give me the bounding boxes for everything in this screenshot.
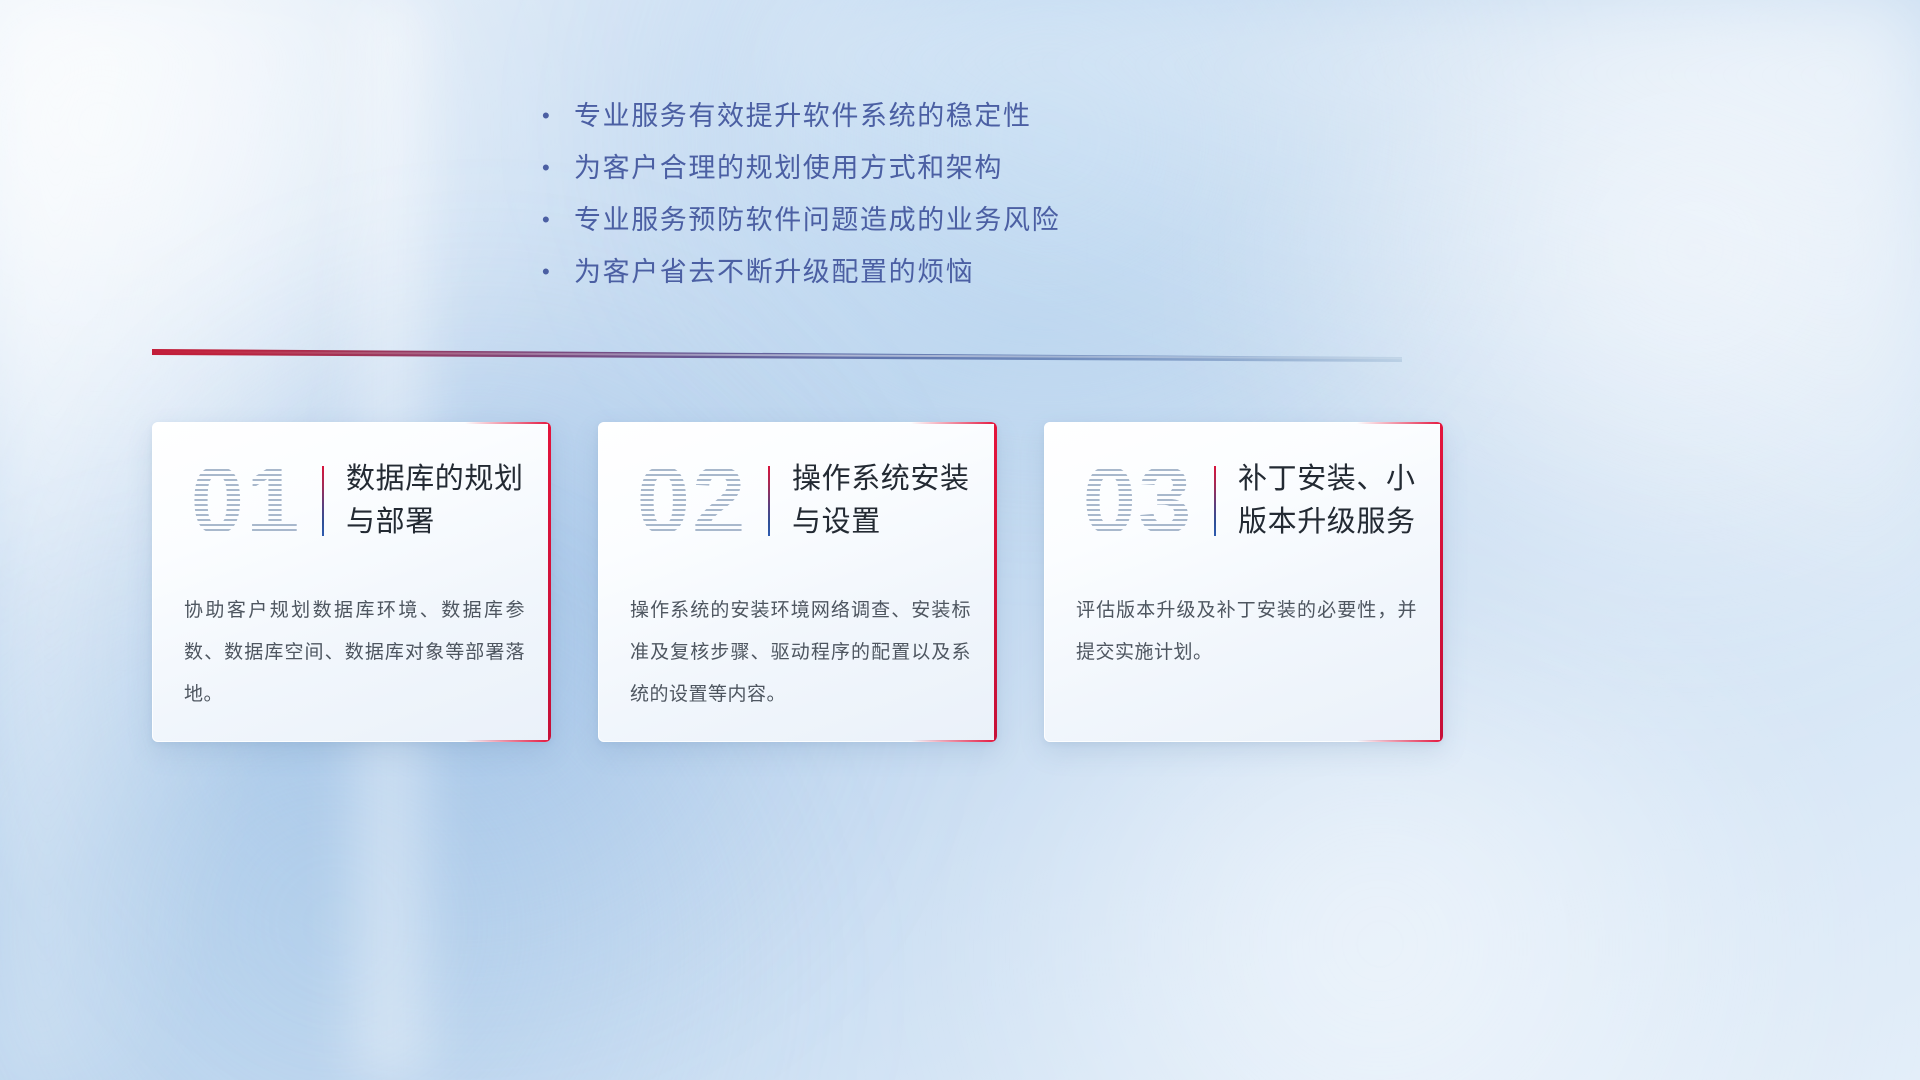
section-divider — [152, 349, 1402, 362]
bullet-marker-icon: • — [536, 198, 574, 242]
card-body-text: 操作系统的安装环境网络调查、安装标准及复核步骤、驱动程序的配置以及系统的设置等内… — [630, 590, 971, 716]
service-card-list: 01 数据库的规划与部署 协助客户规划数据库环境、数据库参数、数据库空间、数据库… — [152, 422, 1444, 742]
bullet-marker-icon: • — [536, 146, 574, 190]
bullet-text: 专业服务预防软件问题造成的业务风险 — [574, 198, 1060, 242]
list-item: • 为客户省去不断升级配置的烦恼 — [536, 250, 1296, 302]
service-card-02[interactable]: 02 操作系统安装与设置 操作系统的安装环境网络调查、安装标准及复核步骤、驱动程… — [598, 422, 997, 742]
card-title: 操作系统安装与设置 — [792, 458, 997, 544]
card-accent-bottom-edge — [465, 740, 551, 742]
card-accent-bottom-edge — [1357, 740, 1443, 742]
card-watermark-number: 01 — [170, 449, 322, 553]
list-item: • 专业服务有效提升软件系统的稳定性 — [536, 94, 1296, 146]
service-card-01[interactable]: 01 数据库的规划与部署 协助客户规划数据库环境、数据库参数、数据库空间、数据库… — [152, 422, 551, 742]
service-card-03[interactable]: 03 补丁安装、小版本升级服务 评估版本升级及补丁安装的必要性，并提交实施计划。 — [1044, 422, 1443, 742]
bullet-text: 专业服务有效提升软件系统的稳定性 — [574, 94, 1032, 138]
list-item: • 为客户合理的规划使用方式和架构 — [536, 146, 1296, 198]
bullet-marker-icon: • — [536, 250, 574, 294]
card-header: 02 操作系统安装与设置 — [598, 446, 997, 556]
card-accent-top-edge — [465, 422, 551, 424]
card-header: 01 数据库的规划与部署 — [152, 446, 551, 556]
card-title: 数据库的规划与部署 — [346, 458, 551, 544]
card-accent-bottom-edge — [911, 740, 997, 742]
card-watermark-number: 02 — [616, 449, 768, 553]
card-divider-line — [1214, 466, 1216, 536]
card-accent-top-edge — [1357, 422, 1443, 424]
bullet-text: 为客户省去不断升级配置的烦恼 — [574, 250, 974, 294]
card-accent-top-edge — [911, 422, 997, 424]
card-title: 补丁安装、小版本升级服务 — [1238, 458, 1443, 544]
list-item: • 专业服务预防软件问题造成的业务风险 — [536, 198, 1296, 250]
card-body-text: 评估版本升级及补丁安装的必要性，并提交实施计划。 — [1076, 590, 1417, 674]
card-watermark-number: 03 — [1062, 449, 1214, 553]
card-divider-line — [768, 466, 770, 536]
benefits-bullet-list: • 专业服务有效提升软件系统的稳定性 • 为客户合理的规划使用方式和架构 • 专… — [536, 94, 1296, 302]
bullet-text: 为客户合理的规划使用方式和架构 — [574, 146, 1003, 190]
bullet-marker-icon: • — [536, 94, 574, 138]
card-body-text: 协助客户规划数据库环境、数据库参数、数据库空间、数据库对象等部署落地。 — [184, 590, 525, 716]
card-divider-line — [322, 466, 324, 536]
card-header: 03 补丁安装、小版本升级服务 — [1044, 446, 1443, 556]
